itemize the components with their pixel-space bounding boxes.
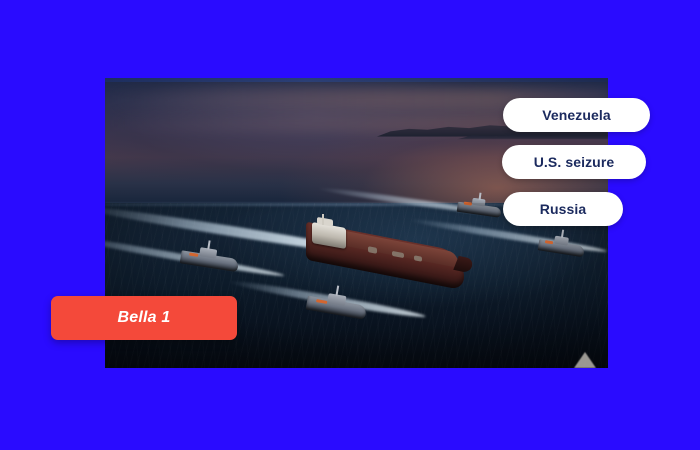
- tag-venezuela[interactable]: Venezuela: [503, 98, 650, 132]
- canvas: Venezuela U.S. seizure Russia Bella 1: [0, 0, 700, 450]
- sea-layer: [105, 203, 608, 368]
- tag-russia[interactable]: Russia: [503, 192, 623, 226]
- sky-top-band: [105, 78, 608, 82]
- triangle-marker-icon: [574, 352, 596, 368]
- tag-us-seizure[interactable]: U.S. seizure: [502, 145, 646, 179]
- photo-vignette: [105, 203, 608, 368]
- vessel-name-tag: Bella 1: [51, 296, 237, 340]
